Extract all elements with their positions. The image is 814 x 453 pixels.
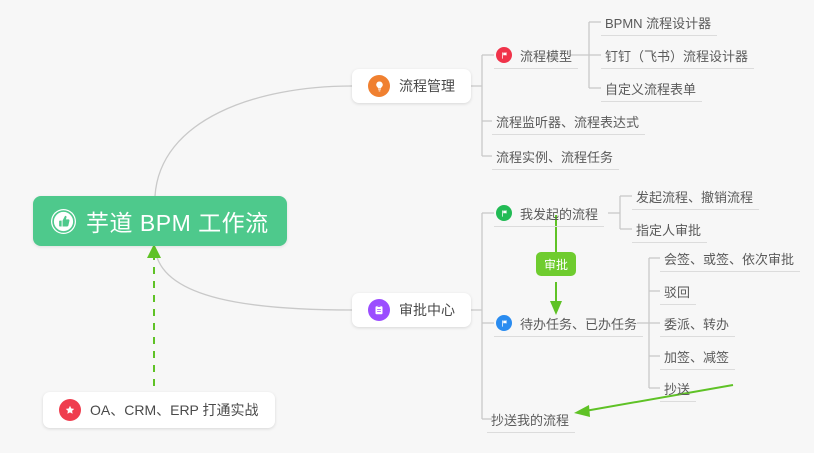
- flag-blue-icon: [496, 315, 512, 331]
- node-label: 待办任务、已办任务: [520, 314, 637, 333]
- tag-approval: 审批: [536, 252, 576, 276]
- node-label: 流程监听器、流程表达式: [496, 112, 639, 131]
- node-label: 委派、转办: [664, 314, 729, 333]
- node-label: 指定人审批: [636, 220, 701, 239]
- node-process-model[interactable]: 流程模型: [494, 42, 578, 69]
- node-label: 发起流程、撤销流程: [636, 187, 753, 206]
- branch-approval-center[interactable]: 审批中心: [352, 293, 471, 327]
- node-label: 我发起的流程: [520, 204, 598, 223]
- node-label: 抄送: [664, 379, 690, 398]
- branch-label: 审批中心: [399, 300, 455, 320]
- branch-process-management[interactable]: 流程管理: [352, 69, 471, 103]
- node-add-remove-sign[interactable]: 加签、减签: [660, 343, 735, 370]
- node-bpmn-designer[interactable]: BPMN 流程设计器: [601, 9, 717, 36]
- node-cc[interactable]: 抄送: [660, 375, 696, 402]
- star-icon: [59, 399, 81, 421]
- node-process-instance-task[interactable]: 流程实例、流程任务: [492, 143, 619, 170]
- node-my-initiated-process[interactable]: 我发起的流程: [494, 200, 604, 227]
- node-label: OA、CRM、ERP 打通实战: [90, 400, 259, 420]
- mindmap-canvas: 芋道 BPM 工作流 流程管理 流程模型 BPMN 流程设计器 钉钉（飞书）流程…: [0, 0, 814, 453]
- node-integration-practice[interactable]: OA、CRM、ERP 打通实战: [43, 392, 275, 428]
- node-label: 抄送我的流程: [491, 410, 569, 429]
- node-delegate-transfer[interactable]: 委派、转办: [660, 310, 735, 337]
- node-start-cancel-process[interactable]: 发起流程、撤销流程: [632, 183, 759, 210]
- node-label: 加签、减签: [664, 347, 729, 366]
- node-todo-done-tasks[interactable]: 待办任务、已办任务: [494, 310, 643, 337]
- node-label: 钉钉（飞书）流程设计器: [605, 46, 748, 65]
- clipboard-icon: [368, 299, 390, 321]
- flag-red-icon: [496, 47, 512, 63]
- node-process-listener-expression[interactable]: 流程监听器、流程表达式: [492, 108, 645, 135]
- lightbulb-icon: [368, 75, 390, 97]
- branch-label: 流程管理: [399, 76, 455, 96]
- node-label: 会签、或签、依次审批: [664, 249, 794, 268]
- arrow-cc-to-ccme: [585, 385, 733, 411]
- node-label: BPMN 流程设计器: [605, 13, 711, 32]
- arrowhead-integration: [147, 244, 161, 258]
- node-countersign-or-sequential[interactable]: 会签、或签、依次审批: [660, 245, 800, 272]
- flag-green-icon: [496, 205, 512, 221]
- node-cc-to-me-process[interactable]: 抄送我的流程: [487, 406, 575, 433]
- node-reject[interactable]: 驳回: [660, 278, 696, 305]
- node-label: 驳回: [664, 282, 690, 301]
- node-custom-process-form[interactable]: 自定义流程表单: [601, 75, 702, 102]
- root-label: 芋道 BPM 工作流: [86, 204, 269, 238]
- link-root-to-approval-center: [155, 248, 352, 310]
- node-dingtalk-feishu-designer[interactable]: 钉钉（飞书）流程设计器: [601, 42, 754, 69]
- link-root-to-process-management: [155, 86, 352, 196]
- thumbs-up-icon: [51, 209, 76, 234]
- root-node[interactable]: 芋道 BPM 工作流: [33, 196, 287, 246]
- arrowhead-cc: [574, 405, 590, 417]
- node-label: 流程实例、流程任务: [496, 147, 613, 166]
- node-assignee-approval[interactable]: 指定人审批: [632, 216, 707, 243]
- node-label: 自定义流程表单: [605, 79, 696, 98]
- node-label: 流程模型: [520, 46, 572, 65]
- tag-label: 审批: [544, 256, 568, 273]
